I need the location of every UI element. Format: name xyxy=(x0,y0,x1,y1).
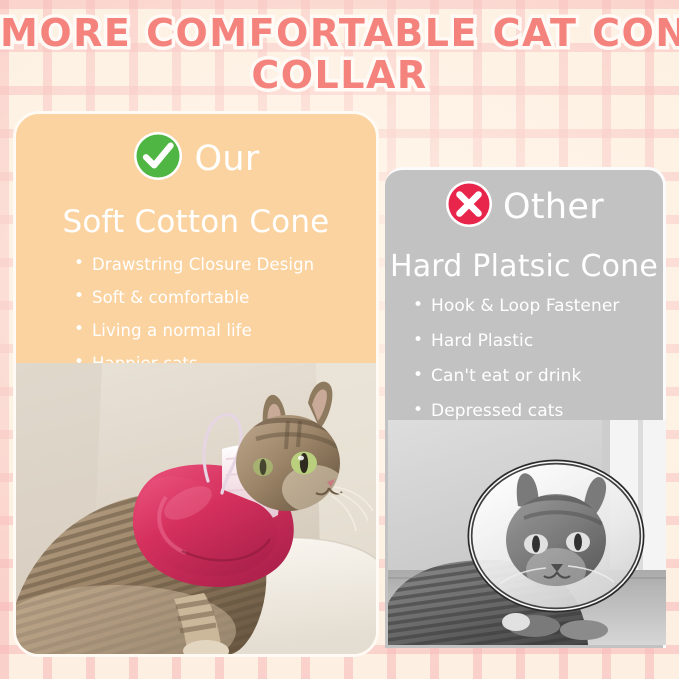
page-title: MORE COMFORTABLE CAT CONE COLLAR xyxy=(0,12,679,96)
page-title-line-1: MORE COMFORTABLE CAT CONE xyxy=(0,12,679,54)
green-check-circle-icon xyxy=(132,130,184,187)
other-badge-label: Other xyxy=(503,188,604,226)
page-title-line-2: COLLAR xyxy=(0,54,679,96)
our-heading-row: Our xyxy=(16,130,376,187)
list-item: Hard Plastic xyxy=(413,332,663,351)
our-subtitle: Soft Cotton Cone xyxy=(16,205,376,239)
our-feature-list: Drawstring Closure Design Soft & comfort… xyxy=(74,255,376,373)
other-heading-row: Other xyxy=(385,179,663,234)
list-item: Hook & Loop Fastener xyxy=(413,297,663,316)
other-subtitle: Hard Platsic Cone xyxy=(385,250,663,283)
list-item: Can't eat or drink xyxy=(413,367,663,386)
list-item: Soft & comfortable xyxy=(74,288,376,307)
list-item: Drawstring Closure Design xyxy=(74,255,376,274)
red-x-circle-icon xyxy=(444,179,494,234)
our-badge-label: Our xyxy=(194,140,259,178)
other-product-photo xyxy=(388,420,666,645)
other-feature-list: Hook & Loop Fastener Hard Plastic Can't … xyxy=(413,297,663,421)
our-product-photo xyxy=(16,363,376,654)
list-item: Depressed cats xyxy=(413,402,663,421)
list-item: Living a normal life xyxy=(74,321,376,340)
